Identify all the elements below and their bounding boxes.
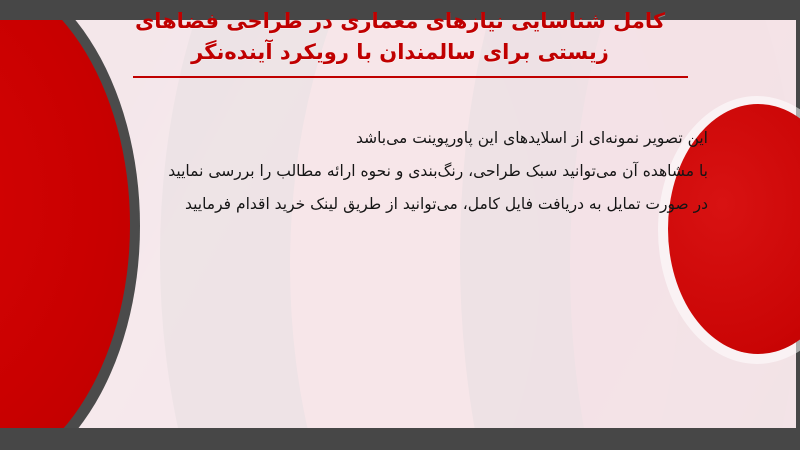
body-line-3: در صورت تمایل به دریافت فایل کامل، می‌تو…	[88, 188, 708, 221]
body-line-2: با مشاهده آن می‌توانید سبک طراحی، رنگ‌بن…	[88, 155, 708, 188]
body-line-1: این تصویر نمونه‌ای از اسلایدهای این پاور…	[88, 122, 708, 155]
slide-title: کامل شناسایی نیازهای معماری در طراحی فضا…	[0, 6, 800, 68]
slide-body-text: این تصویر نمونه‌ای از اسلایدهای این پاور…	[88, 122, 708, 221]
title-line-1: کامل شناسایی نیازهای معماری در طراحی فضا…	[0, 6, 800, 37]
presentation-slide: کامل شناسایی نیازهای معماری در طراحی فضا…	[0, 0, 800, 450]
title-line-2: زیستی برای سالمندان با رویکرد آینده‌نگر	[0, 37, 800, 68]
title-underline-rule	[133, 76, 688, 78]
